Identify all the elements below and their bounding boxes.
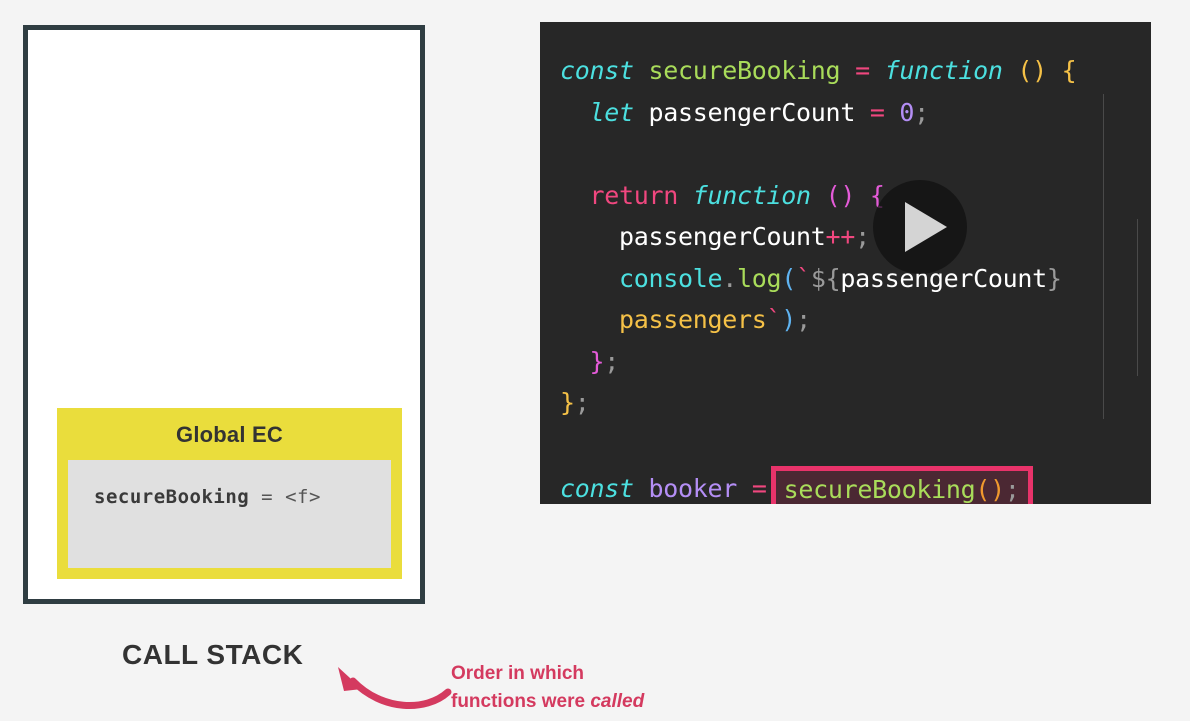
code-token: = — [752, 474, 767, 503]
code-token: () — [975, 475, 1005, 504]
code-token — [634, 98, 649, 127]
code-line: const booker =secureBooking(); — [560, 465, 1076, 504]
code-token: ; — [855, 222, 870, 251]
call-stack-panel: Global EC secureBooking = <f> — [23, 25, 425, 604]
code-token: passengerCount — [840, 264, 1047, 293]
play-triangle-icon — [905, 202, 947, 252]
variable-name: secureBooking — [94, 486, 249, 508]
code-token: function — [885, 56, 1003, 85]
code-token — [870, 56, 885, 85]
code-token: ; — [1005, 475, 1020, 504]
code-token — [634, 56, 649, 85]
code-token: } — [560, 388, 575, 417]
code-token — [811, 181, 826, 210]
code-token: 0 — [899, 98, 914, 127]
code-token — [560, 347, 590, 376]
code-token: passengerCount — [649, 98, 856, 127]
code-token: ` — [767, 305, 782, 334]
code-line: return function () { — [560, 175, 1076, 217]
execution-context-variables: secureBooking = <f> — [68, 460, 391, 568]
code-token: function — [693, 181, 811, 210]
code-line: passengerCount++; — [560, 216, 1076, 258]
code-token — [885, 98, 900, 127]
code-token: . — [722, 264, 737, 293]
play-button[interactable] — [873, 180, 967, 274]
code-token: = — [855, 56, 870, 85]
indent-guide — [1137, 219, 1138, 376]
code-token — [1003, 56, 1018, 85]
code-token: ; — [914, 98, 929, 127]
code-token: { — [1062, 56, 1077, 85]
code-line — [560, 133, 1076, 175]
code-token: ( — [781, 264, 796, 293]
annotation-line-2-prefix: functions were — [451, 691, 590, 712]
code-line: }; — [560, 382, 1076, 424]
code-token: } — [590, 347, 605, 376]
code-token: ; — [575, 388, 590, 417]
code-line: console.log(`${passengerCount} — [560, 258, 1076, 300]
code-token: secureBooking — [784, 475, 976, 504]
code-token: passengerCount — [619, 222, 826, 251]
code-line — [560, 424, 1076, 466]
variable-value: <f> — [285, 486, 321, 508]
code-token: } — [1047, 264, 1062, 293]
code-block: const secureBooking = function () { let … — [540, 22, 1076, 504]
highlighted-call-expression: secureBooking(); — [771, 466, 1033, 504]
code-token: log — [737, 264, 781, 293]
code-token: ` — [796, 264, 811, 293]
code-panel: const secureBooking = function () { let … — [540, 22, 1151, 504]
code-token: const — [560, 474, 634, 503]
code-token: ${ — [811, 264, 841, 293]
code-token — [840, 56, 855, 85]
code-token: () — [1017, 56, 1047, 85]
code-token: secureBooking — [649, 56, 841, 85]
curved-arrow-left-icon — [330, 655, 460, 715]
indent-guide — [1103, 94, 1104, 419]
code-token: ++ — [826, 222, 856, 251]
annotation-text: Order in which functions were called — [451, 660, 711, 715]
code-token — [634, 474, 649, 503]
code-token — [855, 98, 870, 127]
code-token: return — [590, 181, 679, 210]
code-token: let — [590, 98, 634, 127]
code-token — [1047, 56, 1062, 85]
code-token — [737, 474, 752, 503]
code-token — [560, 264, 619, 293]
code-token — [560, 222, 619, 251]
execution-context-frame-global: Global EC secureBooking = <f> — [57, 408, 402, 579]
annotation-line-2: functions were called — [451, 688, 711, 716]
code-token — [560, 305, 619, 334]
code-token — [855, 181, 870, 210]
code-token: ; — [604, 347, 619, 376]
code-token: = — [870, 98, 885, 127]
code-token: ) — [781, 305, 796, 334]
code-token: const — [560, 56, 634, 85]
annotation-line-1: Order in which — [451, 660, 711, 688]
variable-equals: = — [261, 486, 273, 508]
code-line: let passengerCount = 0; — [560, 92, 1076, 134]
code-token — [560, 181, 590, 210]
code-token: booker — [649, 474, 738, 503]
code-line: const secureBooking = function () { — [560, 50, 1076, 92]
code-line: passengers`); — [560, 299, 1076, 341]
variable-row: secureBooking = <f> — [94, 486, 391, 508]
code-token: ; — [796, 305, 811, 334]
code-token: () — [826, 181, 856, 210]
code-token — [560, 98, 590, 127]
call-stack-caption: CALL STACK — [122, 641, 303, 669]
code-token: passengers — [619, 305, 767, 334]
code-token: console — [619, 264, 722, 293]
execution-context-title: Global EC — [57, 408, 402, 460]
annotation-emphasis: called — [590, 691, 644, 712]
code-line: }; — [560, 341, 1076, 383]
code-token — [678, 181, 693, 210]
